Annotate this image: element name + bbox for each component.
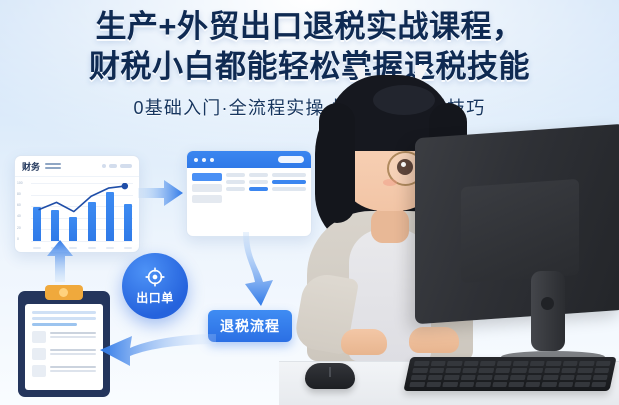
- keyboard-row: [409, 382, 606, 387]
- doc-row: [32, 348, 96, 360]
- table-cell: [192, 173, 222, 181]
- table-row: [226, 187, 268, 191]
- keyboard-row: [411, 375, 608, 380]
- doc-thumb: [32, 331, 46, 343]
- doc-row: [32, 365, 96, 377]
- doc-thumb: [32, 365, 46, 377]
- doc-row: [32, 331, 96, 343]
- promo-poster: 生产+外贸出口退税实战课程， 财税小白都能轻松掌握退税技能 0基础入门·全流程实…: [0, 0, 619, 405]
- arrow-right-icon: [138, 178, 184, 208]
- mouse: [305, 363, 355, 389]
- chart-trend-line: [31, 183, 133, 240]
- export-form-badge-label: 出口单: [136, 289, 174, 306]
- chart-card-title: 财务: [22, 160, 40, 173]
- chart-y-axis: 100 80 60 40 20 0: [17, 181, 29, 243]
- chart-card-dots: [102, 164, 132, 168]
- cheek-left: [383, 179, 397, 186]
- y-tick: 100: [17, 181, 23, 185]
- y-tick: 80: [17, 192, 21, 196]
- workspace-scene: [279, 0, 619, 405]
- hand-left: [341, 329, 387, 355]
- keyboard-row: [414, 361, 611, 366]
- doc-rows: [32, 331, 96, 377]
- window-dot-icon: [210, 158, 214, 162]
- y-tick: 60: [17, 203, 21, 207]
- keyboard: [403, 357, 616, 391]
- monitor-stand-neck: [531, 271, 565, 351]
- hair-side-left: [319, 103, 355, 223]
- table-column-middle: [226, 173, 268, 203]
- y-tick: 0: [17, 237, 19, 241]
- window-dot-icon: [194, 158, 198, 162]
- doc-line: [32, 311, 96, 314]
- target-gear-icon: [144, 266, 166, 288]
- monitor-mount-plate: [461, 179, 579, 283]
- clipboard-document: [18, 285, 110, 397]
- table-cell: [192, 195, 222, 203]
- arrow-left-icon: [100, 328, 216, 368]
- export-form-badge[interactable]: 出口单: [122, 253, 188, 319]
- y-tick: 20: [17, 226, 21, 230]
- chart-plot-area: 100 80 60 40 20 0: [15, 177, 139, 251]
- clipboard-body: [18, 291, 110, 397]
- chart-card-header: 财务: [15, 156, 139, 177]
- doc-thumb: [32, 348, 46, 360]
- doc-line-highlight: [32, 323, 77, 326]
- doc-line: [32, 317, 96, 320]
- table-column-left: [192, 173, 222, 203]
- clipboard-clip-icon: [45, 285, 83, 300]
- clipboard-page: [25, 304, 103, 390]
- arrow-up-icon: [46, 240, 74, 282]
- window-dot-icon: [202, 158, 206, 162]
- neck: [371, 209, 409, 243]
- finance-chart-card: 财务 100 80 60 40 20 0: [14, 155, 140, 253]
- table-cell: [192, 184, 222, 192]
- menu-lines-icon: [45, 163, 61, 169]
- table-row: [226, 180, 268, 184]
- monitor: [415, 131, 619, 359]
- y-tick: 40: [17, 214, 21, 218]
- table-row: [226, 173, 268, 177]
- keyboard-row: [412, 368, 609, 373]
